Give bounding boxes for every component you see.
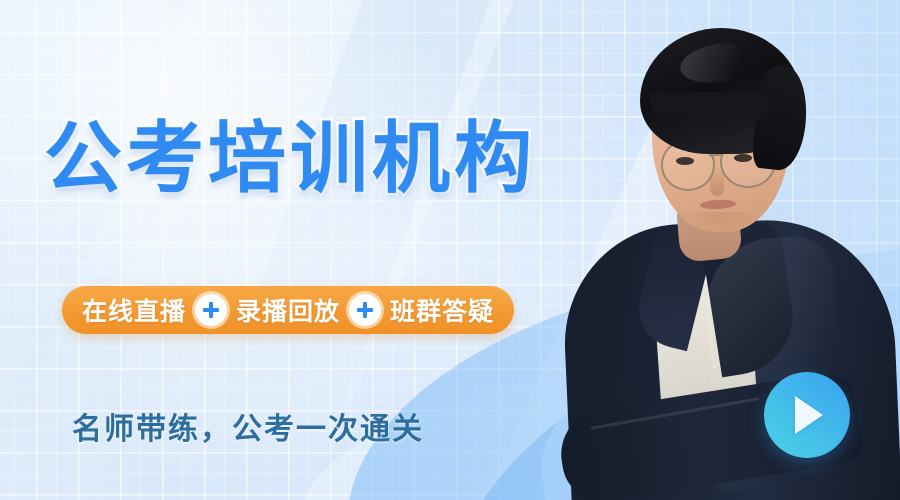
tagline: 名师带练，公考一次通关	[72, 404, 424, 448]
feature-label-replay: 录播回放	[236, 292, 340, 328]
feature-label-qa: 班群答疑	[390, 292, 494, 328]
page-title: 公考培训机构	[44, 120, 536, 198]
promo-banner: 公考培训机构 在线直播 录播回放 班群答疑 名师带练，公考一次通关	[0, 0, 900, 500]
instructor-photo	[560, 0, 900, 500]
plus-icon	[349, 294, 381, 326]
chin-shading	[678, 212, 762, 232]
plus-icon	[195, 294, 227, 326]
feature-pill[interactable]: 在线直播 录播回放 班群答疑	[62, 286, 514, 334]
play-triangle-icon	[795, 396, 823, 434]
feature-label-live: 在线直播	[82, 292, 186, 328]
play-button[interactable]	[764, 372, 850, 458]
